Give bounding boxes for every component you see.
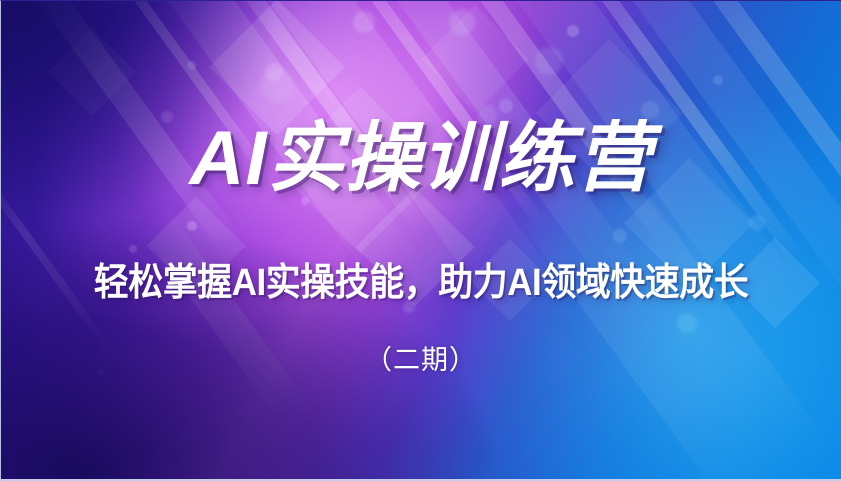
banner-main-title: AI实操训练营 <box>1 113 841 205</box>
banner-edition-label: （二期） <box>1 341 841 379</box>
banner-subtitle: 轻松掌握AI实操技能，助力AI领域快速成长 <box>35 259 808 307</box>
course-banner: AI实操训练营 轻松掌握AI实操技能，助力AI领域快速成长 （二期） <box>0 0 841 481</box>
banner-content: AI实操训练营 轻松掌握AI实操技能，助力AI领域快速成长 （二期） <box>1 1 841 479</box>
